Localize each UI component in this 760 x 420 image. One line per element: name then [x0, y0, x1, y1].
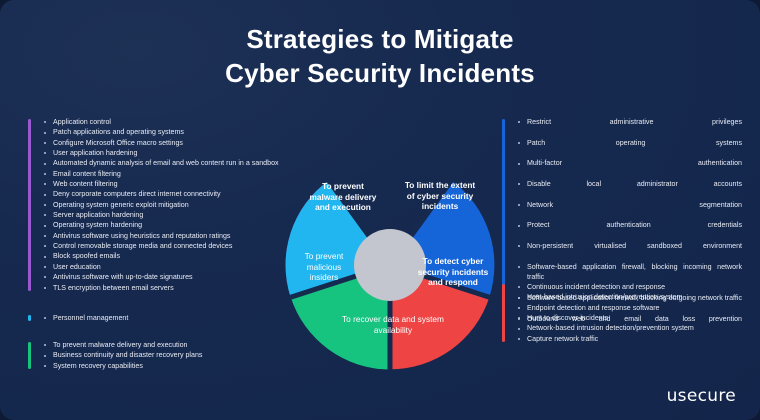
list-item: To prevent malware delivery and executio… — [40, 340, 315, 350]
list-item: Personnel management — [40, 313, 315, 323]
list-item: Multi-factor authentication — [514, 158, 742, 179]
list-item: System recovery capabilities — [40, 361, 315, 371]
list-item: Disable local administrator accounts — [514, 179, 742, 200]
strategies-list: Application controlPatch applications an… — [40, 117, 315, 293]
accent-bar-cyan — [28, 315, 31, 321]
list-item: Patch operating systems — [514, 138, 742, 159]
list-item: Host-based intrusion detection/preventio… — [514, 292, 742, 302]
list-item: Block spoofed emails — [40, 251, 315, 261]
infographic-poster: Strategies to Mitigate Cyber Security In… — [0, 0, 760, 420]
list-item: Network segmentation — [514, 200, 742, 221]
recovery-list: To prevent malware delivery and executio… — [40, 340, 315, 371]
accent-bar-purple — [28, 119, 31, 291]
list-item: Business continuity and disaster recover… — [40, 350, 315, 360]
list-item: Capture network traffic — [514, 334, 742, 344]
list-item: User education — [40, 262, 315, 272]
list-item: Operating system hardening — [40, 220, 315, 230]
list-item: Endpoint detection and response software — [514, 303, 742, 313]
page-title: Strategies to Mitigate Cyber Security In… — [0, 22, 760, 90]
list-item: Control removable storage media and conn… — [40, 241, 315, 251]
usecure-logo: usecure — [667, 386, 736, 406]
list-item: Antivirus software with up-to-date signa… — [40, 272, 315, 282]
list-item: Automated dynamic analysis of email and … — [40, 158, 315, 168]
list-item: Patch applications and operating systems — [40, 127, 315, 137]
list-item: Antivirus software using heuristics and … — [40, 231, 315, 241]
segment-label-detect: To detect cyber security incidents and r… — [417, 256, 489, 288]
detect-list: Continuous incident detection and respon… — [514, 282, 742, 344]
list-item: Deny corporate computers direct internet… — [40, 189, 315, 199]
list-item: Restrict administrative privileges — [514, 117, 742, 138]
list-item: Network-based intrusion detection/preven… — [514, 323, 742, 333]
list-item: Email content filtering — [40, 169, 315, 179]
segment-label-recover: To recover data and system availability — [341, 314, 445, 335]
list-item: Server application hardening — [40, 210, 315, 220]
list-item: Protect authentication credentials — [514, 220, 742, 241]
segment-label-prevent: To prevent malware delivery and executio… — [305, 181, 381, 213]
segment-label-limit: To limit the extent of cyber security in… — [403, 180, 477, 212]
title-line-2: Cyber Security Incidents — [0, 56, 760, 90]
list-item: Non-persistent virtualised sandboxed env… — [514, 241, 742, 262]
list-item: Hunt to discover incidents — [514, 313, 742, 323]
personnel-list: Personnel management — [40, 313, 315, 323]
list-item: Configure Microsoft Office macro setting… — [40, 138, 315, 148]
list-item: Operating system generic exploit mitigat… — [40, 200, 315, 210]
list-item: TLS encryption between email servers — [40, 283, 315, 293]
list-item: Continuous incident detection and respon… — [514, 282, 742, 292]
list-block-recovery: To prevent malware delivery and executio… — [28, 340, 315, 371]
segment-label-insiders: To prevent malicious insiders — [293, 251, 355, 283]
accent-bar-green — [28, 342, 31, 369]
list-block-strategies: Application controlPatch applications an… — [28, 117, 315, 293]
list-item: Web content filtering — [40, 179, 315, 189]
accent-bar-red — [502, 284, 505, 342]
title-line-1: Strategies to Mitigate — [246, 24, 513, 54]
list-item: Application control — [40, 117, 315, 127]
donut-hub — [354, 229, 426, 301]
donut-chart: To limit the extent of cyber security in… — [283, 158, 497, 372]
list-item: User application hardening — [40, 148, 315, 158]
list-block-personnel: Personnel management — [28, 313, 315, 323]
list-block-detect: Continuous incident detection and respon… — [502, 282, 742, 344]
